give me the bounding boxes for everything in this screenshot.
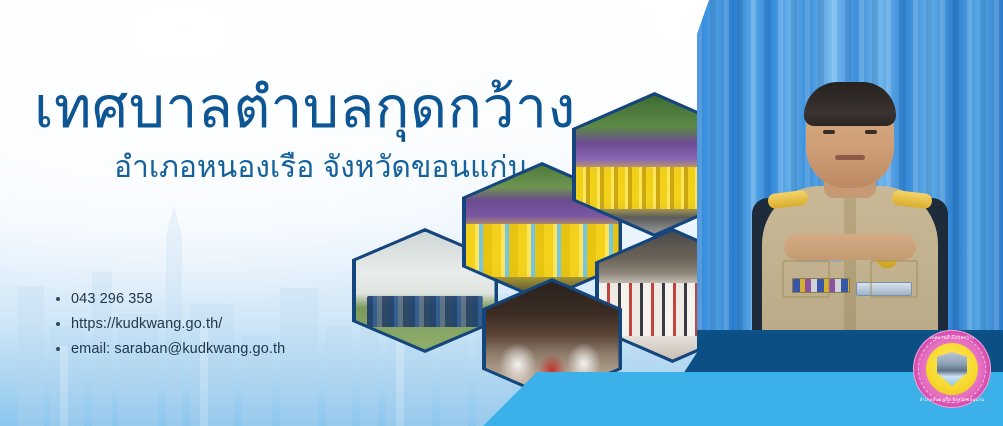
mouth [835,155,865,160]
contact-phone-text: 043 296 358 [71,291,153,307]
epaulette-left [767,190,809,210]
pocket-left [782,260,830,298]
municipality-seal: เทศบาลตำบลกุดกว้าง อำเภอหนองเรือ จังหวัด… [913,330,991,408]
eye-left [823,130,835,134]
seal-text-bottom: อำเภอหนองเรือ จังหวัดขอนแก่น [913,398,991,402]
seal-shield-icon [937,352,967,386]
contact-item-website[interactable]: https://kudkwang.go.th/ [56,316,285,332]
uniform-torso [762,186,938,348]
site-header-banner: เทศบาลตำบลกุดกว้าง อำเภอหนองเรือ จังหวัด… [0,0,1003,426]
hex-photo-collage [340,80,730,400]
contact-email-text[interactable]: email: saraban@kudkwang.go.th [71,341,285,357]
contact-item-phone: 043 296 358 [56,291,285,307]
contact-item-email[interactable]: email: saraban@kudkwang.go.th [56,341,285,357]
seal-core [926,343,978,395]
bullet-icon [56,347,60,351]
seal-text-top: เทศบาลตำบลกุดกว้าง [913,336,991,340]
pocket-right [870,260,918,298]
hair [804,82,896,126]
bullet-icon [56,297,60,301]
hands [784,234,916,260]
contact-website-text[interactable]: https://kudkwang.go.th/ [71,316,222,332]
epaulette-right [891,190,933,210]
eye-right [865,130,877,134]
portrait-figure [747,98,953,348]
bullet-icon [56,322,60,326]
contact-list: 043 296 358 https://kudkwang.go.th/ emai… [56,291,285,366]
